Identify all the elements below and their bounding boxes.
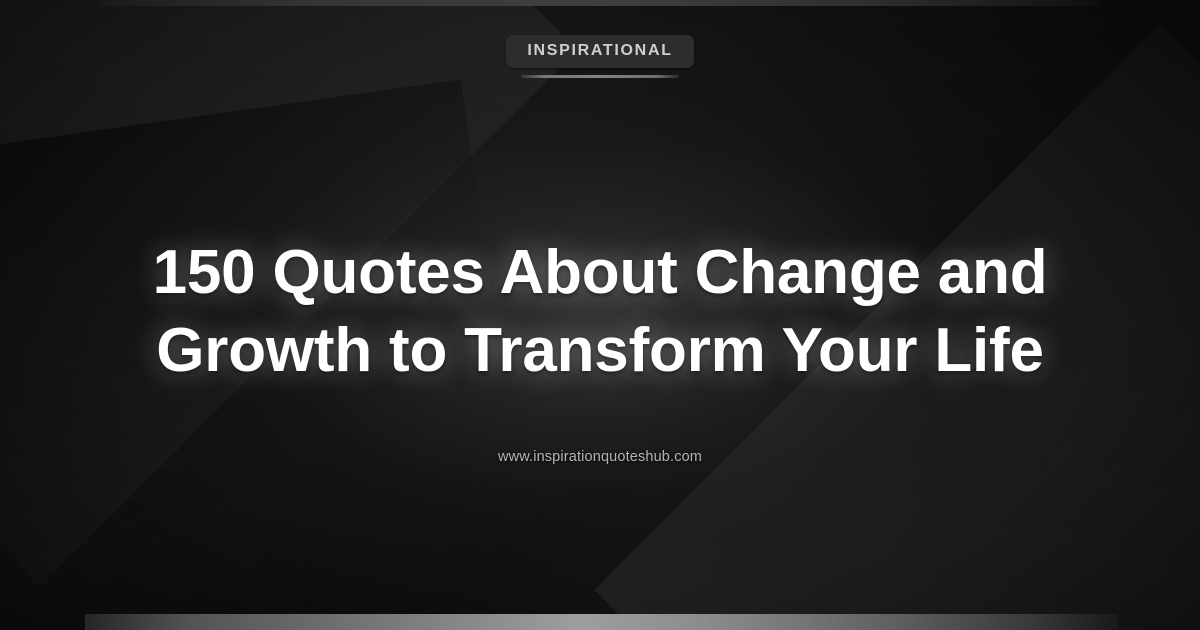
page-title-line-2: Growth to Transform Your Life [70, 312, 1130, 390]
page-title-line-1: 150 Quotes About Change and [70, 234, 1130, 312]
page-title: 150 Quotes About Change and Growth to Tr… [0, 234, 1200, 389]
banner-canvas: INSPIRATIONAL 150 Quotes About Change an… [0, 0, 1200, 630]
badge-underline-rule [521, 75, 679, 78]
banner-content: INSPIRATIONAL 150 Quotes About Change an… [0, 0, 1200, 630]
category-badge-group: INSPIRATIONAL [506, 35, 693, 78]
site-url[interactable]: www.inspirationquoteshub.com [0, 449, 1200, 465]
category-badge[interactable]: INSPIRATIONAL [506, 35, 693, 68]
